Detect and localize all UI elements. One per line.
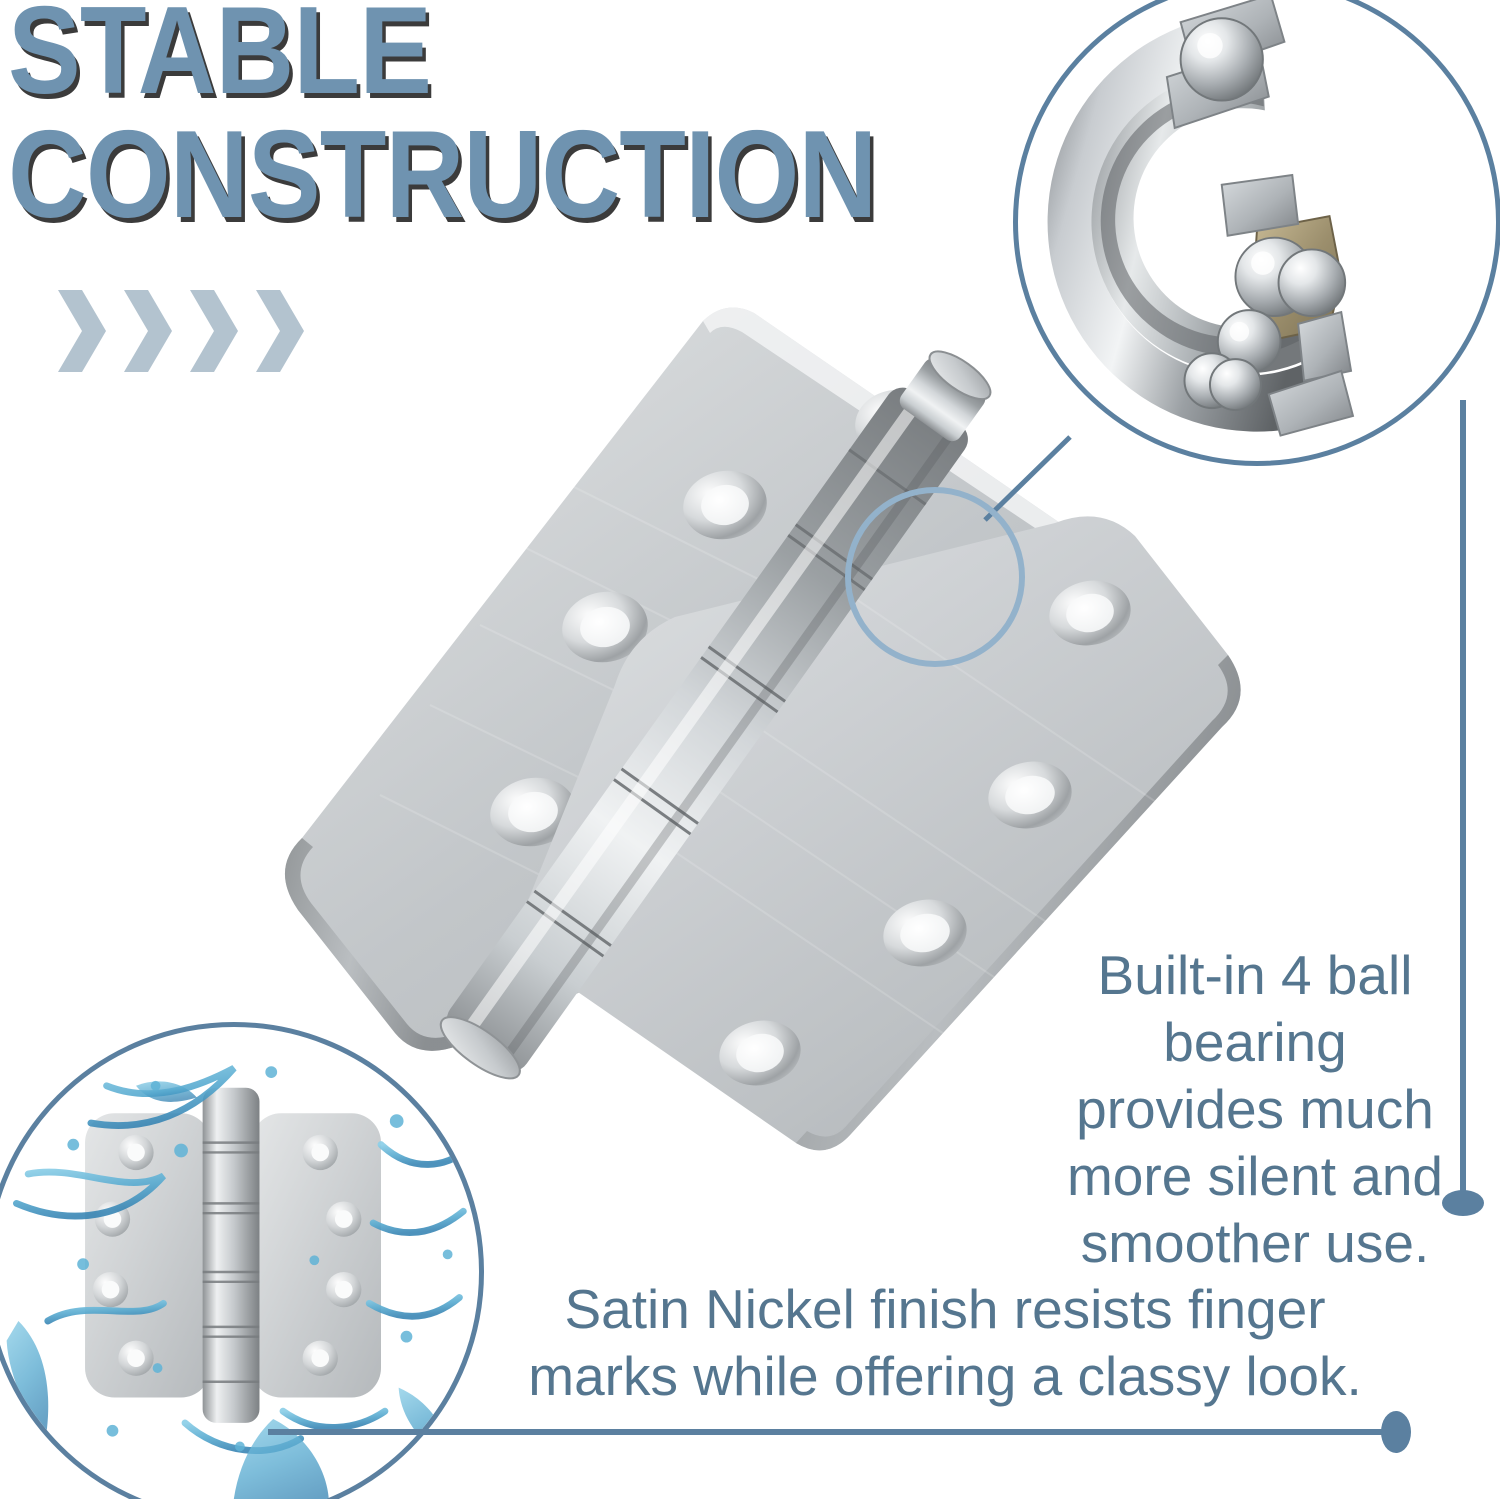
- bearing-ball: [1181, 18, 1263, 100]
- chevron-right-icon: [56, 288, 108, 374]
- caption-satin-nickel-finish: Satin Nickel finish resists finger marks…: [500, 1276, 1390, 1410]
- chevron-right-icon: [122, 288, 174, 374]
- caption-ball-bearing: Built-in 4 ball bearing provides much mo…: [1055, 942, 1455, 1277]
- chevron-right-icon: [188, 288, 240, 374]
- headline-line-1: STABLE: [8, 0, 897, 108]
- headline-line-2: CONSTRUCTION: [8, 118, 897, 232]
- knuckle-annotation-ring: [845, 487, 1025, 667]
- product-feature-graphic: STABLE CONSTRUCTION: [0, 0, 1500, 1499]
- callout-water-resistance: [0, 1022, 484, 1499]
- bearing-ball: [1210, 359, 1261, 410]
- chevron-right-icon: [254, 288, 306, 374]
- chevron-arrow-group: [56, 288, 306, 374]
- connector-endpoint-dot: [1381, 1411, 1411, 1453]
- hinge-water-splash-icon: [0, 1027, 479, 1499]
- callout-ball-bearing: [1013, 0, 1500, 466]
- hinge-knuckle: [203, 1088, 260, 1423]
- bearing-ball: [1279, 249, 1346, 316]
- ball-bearing-cutaway-icon: [1018, 0, 1496, 461]
- page-title: STABLE CONSTRUCTION: [8, 0, 1018, 232]
